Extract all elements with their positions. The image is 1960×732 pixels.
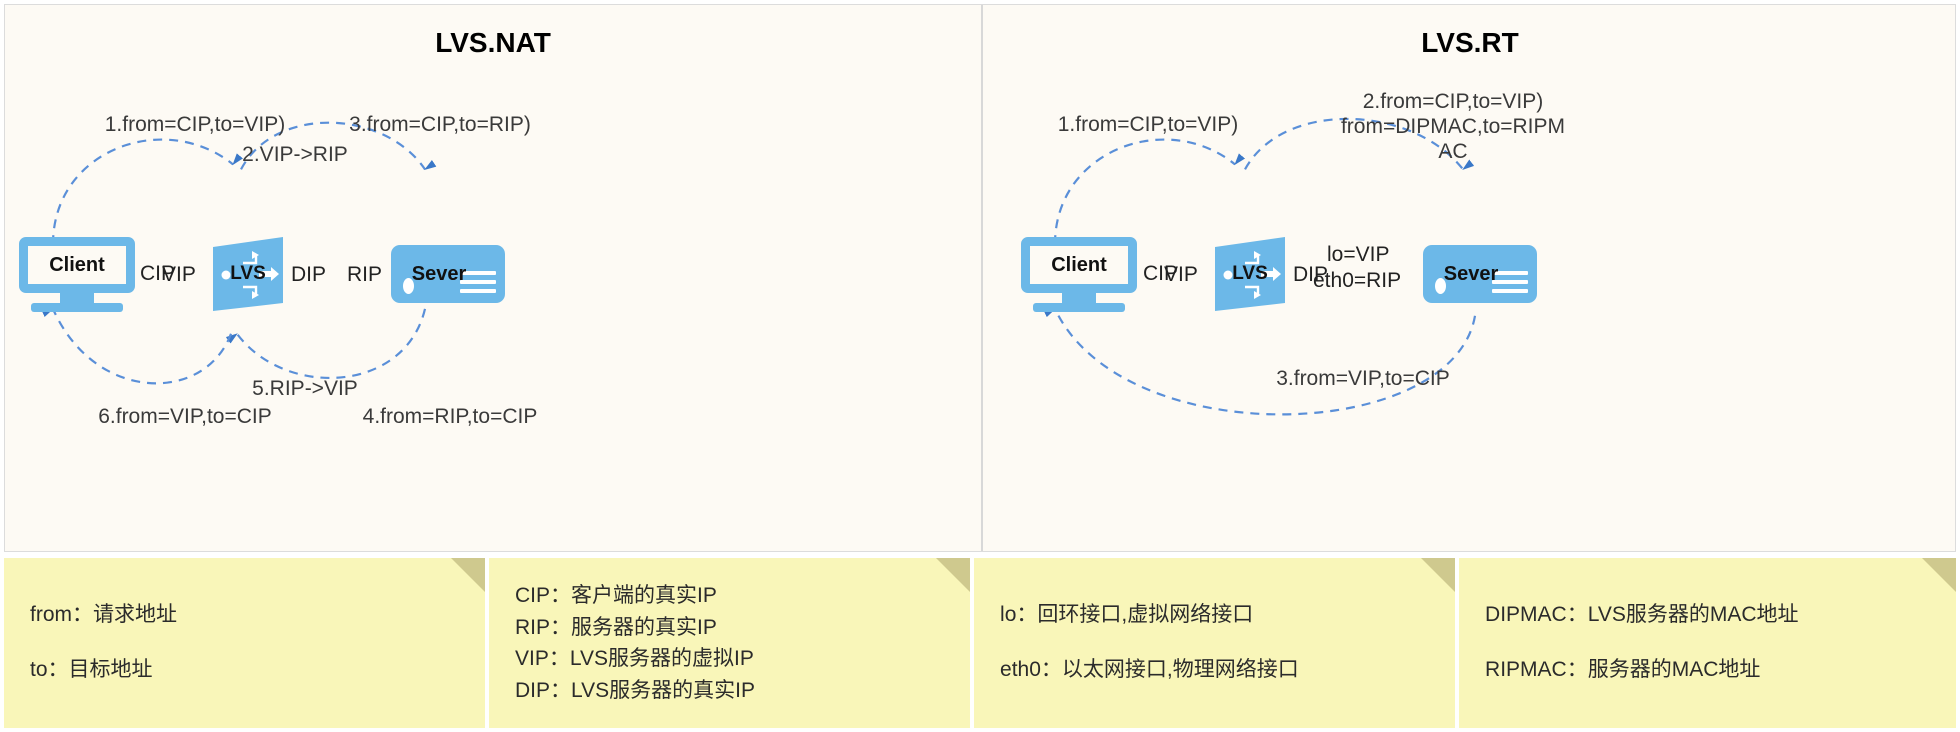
legend-line: DIPMAC：LVS服务器的MAC地址	[1485, 588, 1930, 643]
panel-title-rt: LVS.RT	[983, 27, 1957, 59]
monitor-icon: Client	[1021, 237, 1137, 313]
flow-label-rt-1: 1.from=CIP,to=VIP)	[1023, 113, 1273, 138]
flow-label-rt-2: 2.from=CIP,to=VIP) from=DIPMAC,to=RIPM A…	[1293, 90, 1613, 164]
diagram-canvas: LVS.NAT 1.f	[4, 4, 1956, 552]
lvs-right-label-nat: DIP	[291, 263, 326, 288]
server-side-label-eth0-rt: eth0=RIP	[1313, 269, 1401, 294]
flow-label-6: 6.from=VIP,to=CIP	[60, 405, 310, 430]
flow-label-1: 1.from=CIP,to=VIP)	[75, 113, 315, 138]
server-label: Sever	[1423, 245, 1537, 303]
panel-title-nat: LVS.NAT	[5, 27, 981, 59]
node-lvs-rt[interactable]: LVS	[1211, 233, 1289, 315]
legend-line: CIP：客户端的真实IP	[515, 580, 944, 612]
node-lvs-nat[interactable]: LVS	[209, 233, 287, 315]
legend-line: DIP：LVS服务器的真实IP	[515, 675, 944, 707]
lvs-icon: LVS	[1211, 233, 1289, 315]
client-label: Client	[1021, 237, 1137, 293]
legend-line: from：请求地址	[30, 588, 459, 643]
server-icon: Sever	[1423, 245, 1537, 303]
legend-box-interfaces: lo：回环接口,虚拟网络接口 eth0：以太网接口,物理网络接口	[974, 558, 1455, 728]
lvs-label: LVS	[209, 233, 287, 315]
legend-line: lo：回环接口,虚拟网络接口	[1000, 588, 1429, 643]
legend-box-mac-terms: DIPMAC：LVS服务器的MAC地址 RIPMAC：服务器的MAC地址	[1459, 558, 1956, 728]
server-icon: Sever	[391, 245, 505, 303]
fold-corner-icon	[1922, 558, 1956, 592]
panel-lvs-nat: LVS.NAT 1.f	[5, 5, 981, 551]
flow-label-rt-3: 3.from=VIP,to=CIP	[1213, 367, 1513, 392]
legend-box-from-to: from：请求地址 to：目标地址	[4, 558, 485, 728]
monitor-base	[1033, 303, 1125, 312]
client-label: Client	[19, 237, 135, 293]
legend-line: RIPMAC：服务器的MAC地址	[1485, 643, 1930, 698]
lvs-icon: LVS	[209, 233, 287, 315]
server-side-label-lo-rt: lo=VIP	[1327, 243, 1389, 268]
server-label: Sever	[391, 245, 505, 303]
arc-lvs-to-client	[53, 309, 231, 383]
flow-label-3: 3.from=CIP,to=RIP)	[315, 113, 565, 138]
monitor-icon: Client	[19, 237, 135, 313]
arc-client-to-lvs-rt	[1055, 140, 1235, 245]
lvs-label: LVS	[1211, 233, 1289, 315]
lvs-left-label-rt: VIP	[1164, 263, 1198, 288]
node-server-nat[interactable]: Sever	[391, 245, 505, 303]
node-server-rt[interactable]: Sever	[1423, 245, 1537, 303]
monitor-base	[31, 303, 123, 312]
arc-server-to-lvs	[237, 309, 425, 378]
flow-label-5: 5.RIP->VIP	[205, 377, 405, 402]
legend-line: eth0：以太网接口,物理网络接口	[1000, 643, 1429, 698]
flow-label-4: 4.from=RIP,to=CIP	[325, 405, 575, 430]
legend-strip: from：请求地址 to：目标地址 CIP：客户端的真实IP RIP：服务器的真…	[4, 558, 1956, 728]
lvs-left-label-nat: VIP	[162, 263, 196, 288]
legend-box-ip-terms: CIP：客户端的真实IP RIP：服务器的真实IP VIP：LVS服务器的虚拟I…	[489, 558, 970, 728]
fold-corner-icon	[1421, 558, 1455, 592]
diagram-root: LVS.NAT 1.f	[0, 0, 1960, 732]
arc-server-to-client-rt	[1055, 309, 1475, 414]
node-client-rt[interactable]: Client	[1021, 237, 1137, 313]
legend-line: VIP：LVS服务器的虚拟IP	[515, 643, 944, 675]
legend-line: RIP：服务器的真实IP	[515, 612, 944, 644]
legend-line: to：目标地址	[30, 643, 459, 698]
panel-lvs-rt: LVS.RT 1.from=CIP,to=VIP) 2.from=CIP,to=…	[983, 5, 1957, 551]
server-side-label-nat: RIP	[347, 263, 382, 288]
flow-label-2: 2.VIP->RIP	[195, 143, 395, 168]
fold-corner-icon	[936, 558, 970, 592]
fold-corner-icon	[451, 558, 485, 592]
node-client-nat[interactable]: Client	[19, 237, 135, 313]
